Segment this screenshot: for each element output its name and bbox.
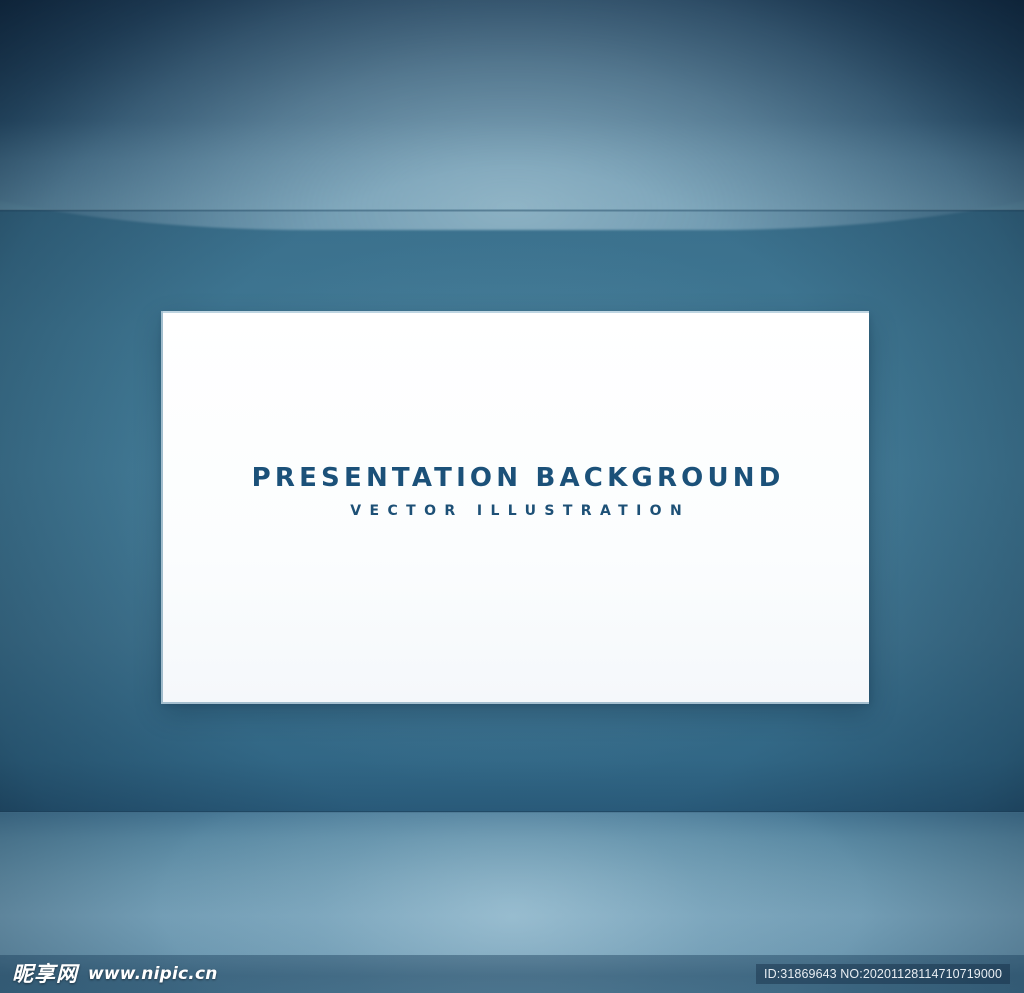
wall-floor-junction-line xyxy=(0,811,1024,813)
asset-id-label: ID:31869643 NO:20201128114710719000 xyxy=(756,964,1010,984)
presentation-card: PRESENTATION BACKGROUND VECTOR ILLUSTRAT… xyxy=(163,313,869,702)
card-subtitle: VECTOR ILLUSTRATION xyxy=(163,503,869,519)
nipic-logo: 昵享网 xyxy=(12,964,78,985)
nipic-url: www.nipic.cn xyxy=(88,964,218,984)
watermark-footer-bar: 昵享网 www.nipic.cn ID:31869643 NO:20201128… xyxy=(0,955,1024,993)
card-top-highlight-edge xyxy=(163,311,869,313)
card-bottom-highlight-edge xyxy=(163,702,869,704)
card-title: PRESENTATION BACKGROUND xyxy=(163,465,869,492)
footer-asset-group: ID:31869643 NO:20201128114710719000 xyxy=(756,965,1024,983)
footer-brand-group: 昵享网 www.nipic.cn xyxy=(0,964,218,985)
scene-stage: PRESENTATION BACKGROUND VECTOR ILLUSTRAT… xyxy=(0,0,1024,993)
card-text-block: PRESENTATION BACKGROUND VECTOR ILLUSTRAT… xyxy=(163,465,869,519)
